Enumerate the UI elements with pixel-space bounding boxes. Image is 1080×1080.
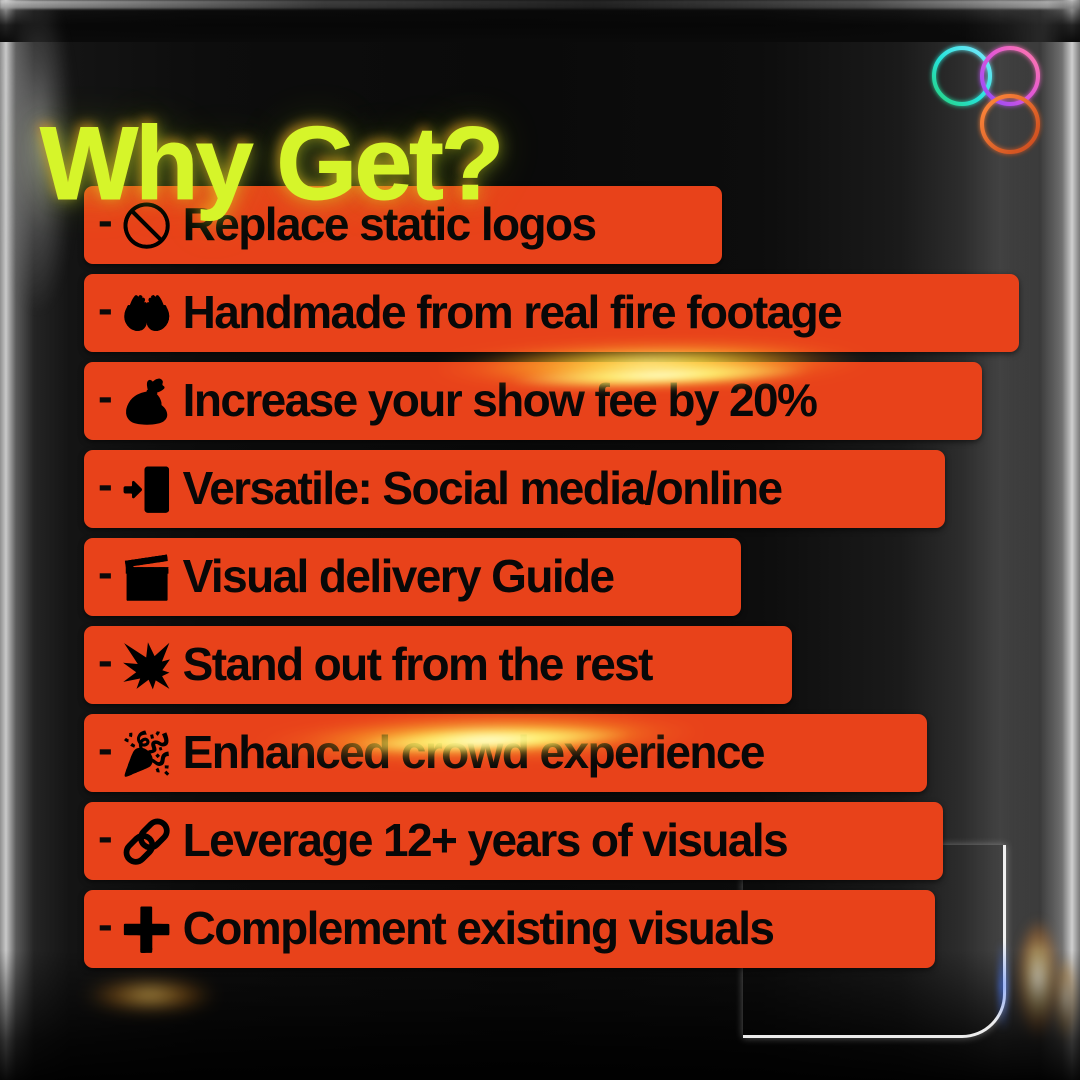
list-bullet: - xyxy=(98,639,113,683)
list-item: -➕Complement existing visuals xyxy=(84,890,1064,968)
party-popper-icon: 🎉 xyxy=(119,733,175,775)
list-item: -🔗Leverage 12+ years of visuals xyxy=(84,802,1064,880)
benefit-bar[interactable]: -💰Increase your show fee by 20% xyxy=(84,362,982,440)
open-hands-icon: 🤲 xyxy=(119,293,175,335)
plus-sign-icon: ➕ xyxy=(119,909,175,951)
left-edge-specular xyxy=(10,0,80,470)
slide-canvas: Why Get? xyxy=(0,0,1080,1080)
benefit-bar[interactable]: -🎬Visual delivery Guide xyxy=(84,538,741,616)
list-bullet: - xyxy=(98,463,113,507)
list-bullet: - xyxy=(98,375,113,419)
clapper-board-icon: 🎬 xyxy=(119,557,175,599)
benefit-bar[interactable]: -➕Complement existing visuals xyxy=(84,890,935,968)
page-title: Why Get? xyxy=(40,112,501,216)
benefit-label: Handmade from real fire footage xyxy=(183,289,841,335)
list-item: -💰Increase your show fee by 20% xyxy=(84,362,1064,440)
benefit-label: Visual delivery Guide xyxy=(183,553,614,599)
benefit-bar[interactable]: -🔗Leverage 12+ years of visuals xyxy=(84,802,943,880)
benefit-bar[interactable]: -🤲Handmade from real fire footage xyxy=(84,274,1019,352)
list-item: -🤲Handmade from real fire footage xyxy=(84,274,1064,352)
sparkle-star-icon: 💥 xyxy=(119,645,175,687)
benefit-label: Stand out from the rest xyxy=(183,641,652,687)
benefit-label: Complement existing visuals xyxy=(183,905,774,951)
list-item: -🎉Enhanced crowd experience xyxy=(84,714,1064,792)
benefit-bar[interactable]: -💥Stand out from the rest xyxy=(84,626,792,704)
benefit-bar[interactable]: -📲Versatile: Social media/online xyxy=(84,450,945,528)
benefit-label: Versatile: Social media/online xyxy=(183,465,782,511)
list-item: -📲Versatile: Social media/online xyxy=(84,450,1064,528)
list-bullet: - xyxy=(98,551,113,595)
mobile-arrow-icon: 📲 xyxy=(119,469,175,511)
list-item: -💥Stand out from the rest xyxy=(84,626,1064,704)
list-bullet: - xyxy=(98,727,113,771)
benefit-bar[interactable]: -🎉Enhanced crowd experience xyxy=(84,714,927,792)
list-item: -🎬Visual delivery Guide xyxy=(84,538,1064,616)
benefit-label: Enhanced crowd experience xyxy=(183,729,764,775)
top-edge-highlight xyxy=(0,0,1080,9)
benefit-label: Leverage 12+ years of visuals xyxy=(183,817,787,863)
list-bullet: - xyxy=(98,903,113,947)
benefit-label: Increase your show fee by 20% xyxy=(183,377,817,423)
list-bullet: - xyxy=(98,287,113,331)
money-bag-icon: 💰 xyxy=(119,381,175,423)
three-circles-logo xyxy=(918,32,1054,162)
link-chain-icon: 🔗 xyxy=(119,821,175,863)
list-bullet: - xyxy=(98,815,113,859)
benefits-list: -🚫Replace static logos-🤲Handmade from re… xyxy=(84,186,1064,978)
